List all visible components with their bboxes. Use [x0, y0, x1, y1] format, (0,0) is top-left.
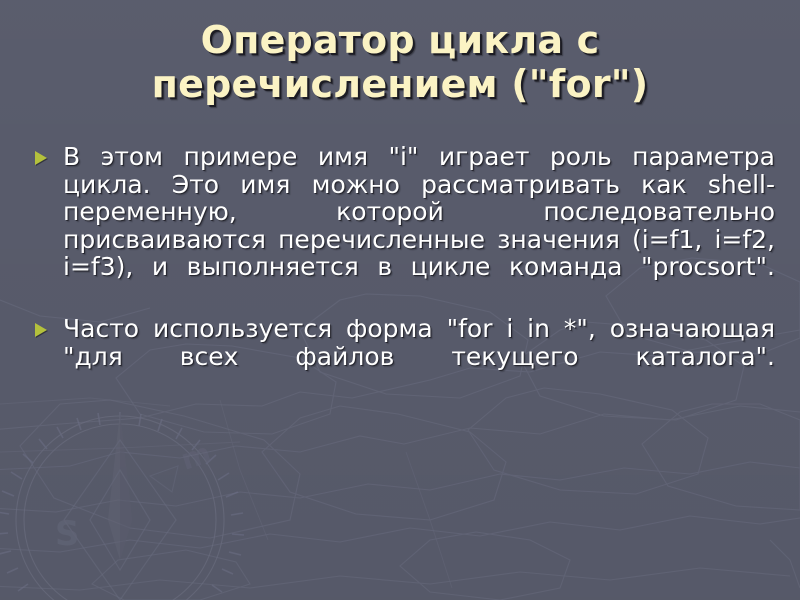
triangle-right-bullet-icon: [35, 323, 47, 337]
bullet-item-text: Часто используется форма "for i in *", о…: [63, 315, 775, 398]
slide-title-line-2: перечислением ("for"): [40, 62, 760, 106]
bullet-item-text: В этом примере имя "i" играет роль парам…: [63, 143, 775, 308]
presentation-slide: S m Оператор цикла с перечислением ("for…: [0, 0, 800, 600]
bullet-item: В этом примере имя "i" играет роль парам…: [30, 143, 775, 308]
slide-title-line-1: Оператор цикла с: [40, 18, 760, 62]
bullet-item: Часто используется форма "for i in *", о…: [30, 315, 775, 398]
background-thin-strokes: [0, 398, 452, 588]
slide-content: В этом примере имя "i" играет роль парам…: [30, 143, 775, 405]
svg-text:S: S: [55, 514, 80, 554]
triangle-right-bullet-icon: [35, 151, 47, 165]
slide-title: Оператор цикла с перечислением ("for"): [40, 18, 760, 106]
compass-rose-icon: S m: [0, 412, 244, 600]
svg-text:m: m: [177, 436, 215, 476]
